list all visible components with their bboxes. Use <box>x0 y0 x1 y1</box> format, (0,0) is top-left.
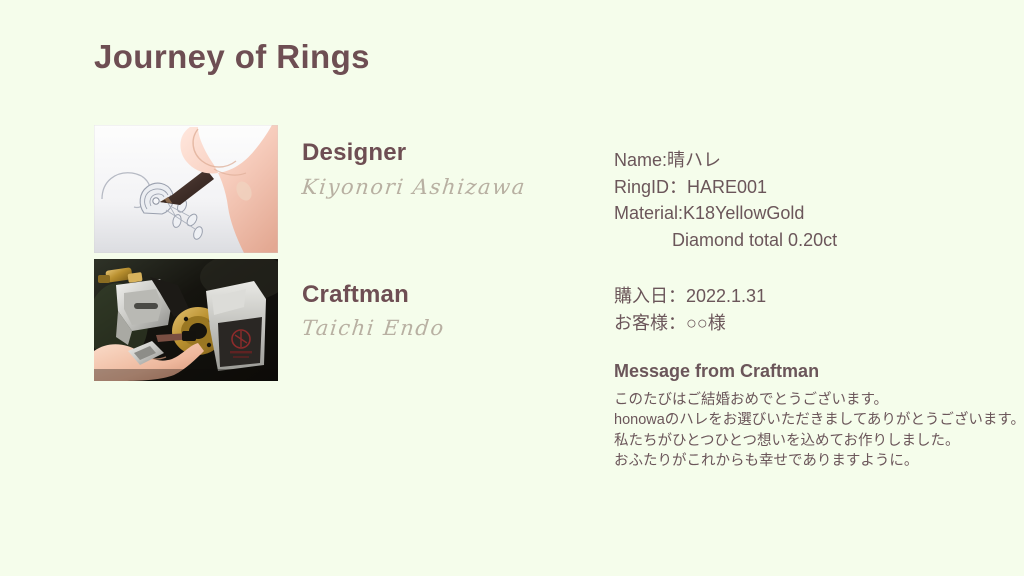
designer-signature: Kiyonori Ashizawa <box>301 175 528 199</box>
spec-ring-id: RingID：HARE001 <box>614 174 837 201</box>
message-line: honowaのハレをお選びいただきましてありがとうございます。 <box>614 410 1024 431</box>
message-line: 私たちがひとつひとつ想いを込めてお作りしました。 <box>614 431 1024 452</box>
purchase-info-block: 購入日：2022.1.31 お客様：○○様 <box>614 283 766 337</box>
spec-name: Name:晴ハレ <box>614 147 837 174</box>
spec-material: Material:K18YellowGold <box>614 200 837 227</box>
designer-role-block: Designer Kiyonori Ashizawa <box>302 140 526 199</box>
craftman-message-block: Message from Craftman このたびはご結婚おめでとうございます… <box>614 360 1024 472</box>
designer-photo <box>94 125 278 253</box>
designer-role-title: Designer <box>302 140 526 166</box>
message-line: このたびはご結婚おめでとうございます。 <box>614 390 1024 411</box>
spec-diamond: Diamond total 0.20ct <box>614 227 837 254</box>
page-title: Journey of Rings <box>94 38 370 76</box>
craftman-role-title: Craftman <box>302 282 445 308</box>
workshop-photo-icon <box>94 259 278 381</box>
purchase-date: 購入日：2022.1.31 <box>614 283 766 310</box>
customer-name: お客様：○○様 <box>614 310 766 337</box>
craftman-photo <box>94 259 278 381</box>
slide-canvas: Journey of Rings <box>0 0 1024 576</box>
ring-spec-block: Name:晴ハレ RingID：HARE001 Material:K18Yell… <box>614 147 837 253</box>
sketch-photo-icon <box>94 125 278 253</box>
craftman-role-block: Craftman Taichi Endo <box>302 282 445 340</box>
message-line: おふたりがこれからも幸せでありますように。 <box>614 451 1024 472</box>
craftman-signature: Taichi Endo <box>301 316 446 340</box>
message-title: Message from Craftman <box>614 360 1024 383</box>
